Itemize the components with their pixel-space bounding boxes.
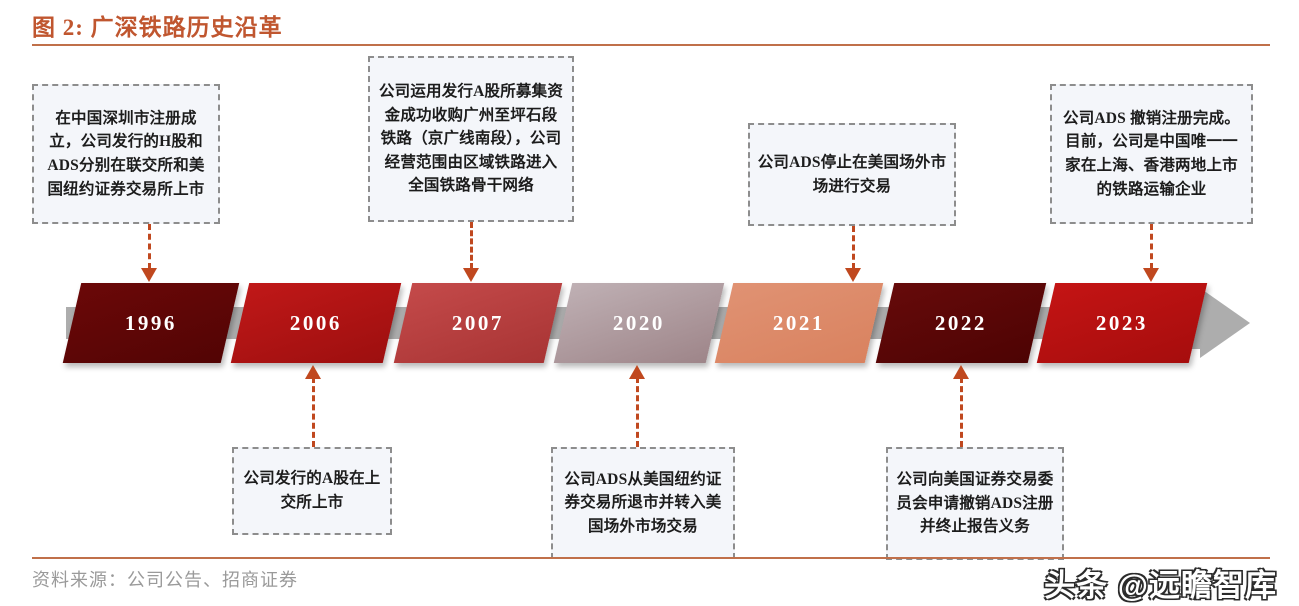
milestone-note-2007[interactable]: 公司运用发行A股所募集资金成功收购广州至坪石段铁路（京广线南段），公司经营范围由… bbox=[368, 56, 574, 222]
source-note: 资料来源：公司公告、招商证券 bbox=[32, 566, 298, 592]
milestone-connector-arrow-icon bbox=[305, 365, 321, 379]
milestone-note-text: 公司ADS从美国纽约证券交易所退市并转入美国场外市场交易 bbox=[560, 468, 726, 539]
milestone-connector-2023 bbox=[1150, 224, 1153, 269]
timeline-milestone-2007[interactable]: 2007 bbox=[394, 283, 562, 363]
milestone-note-text: 公司向美国证券交易委员会申请撤销ADS注册并终止报告义务 bbox=[895, 468, 1055, 539]
milestone-connector-arrow-icon bbox=[845, 268, 861, 282]
milestone-connector-2006 bbox=[312, 377, 315, 447]
milestone-connector-arrow-icon bbox=[953, 365, 969, 379]
milestone-connector-arrow-icon bbox=[463, 268, 479, 282]
timeline-milestone-2023[interactable]: 2023 bbox=[1037, 283, 1207, 363]
timeline-milestone-2020[interactable]: 2020 bbox=[554, 283, 724, 363]
figure-canvas: 图 2: 广深铁路历史沿革 1996在中国深圳市注册成立，公司发行的H股和ADS… bbox=[0, 0, 1299, 606]
milestone-year-label: 2023 bbox=[1096, 311, 1148, 336]
title-divider bbox=[32, 44, 1270, 46]
milestone-connector-arrow-icon bbox=[141, 268, 157, 282]
milestone-year-label: 1996 bbox=[125, 311, 177, 336]
milestone-note-text: 公司ADS 撤销注册完成。目前，公司是中国唯一一家在上海、香港两地上市的铁路运输… bbox=[1059, 107, 1244, 201]
milestone-note-2020[interactable]: 公司ADS从美国纽约证券交易所退市并转入美国场外市场交易 bbox=[551, 447, 735, 559]
milestone-year-label: 2022 bbox=[935, 311, 987, 336]
milestone-year-label: 2006 bbox=[290, 311, 342, 336]
milestone-connector-2007 bbox=[470, 222, 473, 269]
milestone-connector-arrow-icon bbox=[629, 365, 645, 379]
milestone-note-1996[interactable]: 在中国深圳市注册成立，公司发行的H股和ADS分别在联交所和美国纽约证券交易所上市 bbox=[32, 84, 220, 224]
milestone-note-text: 公司发行的A股在上交所上市 bbox=[241, 467, 383, 514]
milestone-note-text: 公司运用发行A股所募集资金成功收购广州至坪石段铁路（京广线南段），公司经营范围由… bbox=[377, 80, 565, 198]
timeline-milestone-2022[interactable]: 2022 bbox=[876, 283, 1046, 363]
milestone-note-2006[interactable]: 公司发行的A股在上交所上市 bbox=[232, 447, 392, 535]
watermark-label: 头条 @远瞻智库 bbox=[1044, 560, 1277, 605]
milestone-note-2023[interactable]: 公司ADS 撤销注册完成。目前，公司是中国唯一一家在上海、香港两地上市的铁路运输… bbox=[1050, 84, 1253, 224]
milestone-connector-arrow-icon bbox=[1143, 268, 1159, 282]
page-title: 图 2: 广深铁路历史沿革 bbox=[32, 8, 1272, 42]
figure-title-wrap: 图 2: 广深铁路历史沿革 bbox=[32, 8, 1272, 42]
timeline-milestone-2006[interactable]: 2006 bbox=[231, 283, 401, 363]
milestone-connector-1996 bbox=[148, 224, 151, 269]
milestone-year-label: 2020 bbox=[613, 311, 665, 336]
timeline-milestone-1996[interactable]: 1996 bbox=[63, 283, 239, 363]
milestone-year-label: 2021 bbox=[773, 311, 825, 336]
milestone-note-2021[interactable]: 公司ADS停止在美国场外市场进行交易 bbox=[748, 123, 956, 226]
milestone-note-2022[interactable]: 公司向美国证券交易委员会申请撤销ADS注册并终止报告义务 bbox=[886, 447, 1064, 560]
milestone-year-label: 2007 bbox=[452, 311, 504, 336]
timeline-arrow-head-icon bbox=[1200, 288, 1250, 358]
milestone-note-text: 在中国深圳市注册成立，公司发行的H股和ADS分别在联交所和美国纽约证券交易所上市 bbox=[41, 107, 211, 201]
milestone-connector-2021 bbox=[852, 226, 855, 269]
timeline-milestone-2021[interactable]: 2021 bbox=[715, 283, 883, 363]
footer-divider bbox=[32, 557, 1270, 559]
milestone-connector-2020 bbox=[636, 377, 639, 447]
milestone-note-text: 公司ADS停止在美国场外市场进行交易 bbox=[757, 151, 947, 198]
milestone-connector-2022 bbox=[960, 377, 963, 447]
